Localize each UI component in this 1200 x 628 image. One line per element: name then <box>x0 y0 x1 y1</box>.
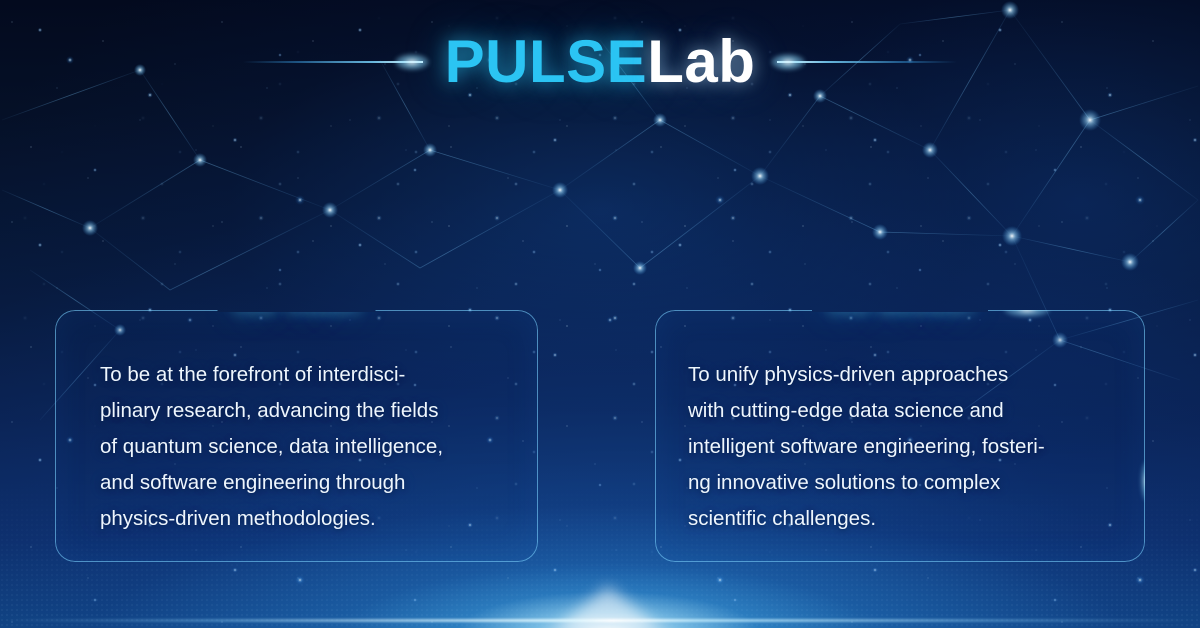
brand-primary: PULSE <box>445 28 648 95</box>
horizon-peak-glow <box>556 586 660 628</box>
horizon-line-glow <box>0 619 1200 622</box>
poster-canvas: PULSELab Our Vision To be at the forefro… <box>0 0 1200 628</box>
card-mission: Our Mission To unify physics-driven appr… <box>655 310 1145 562</box>
light-beam-right-icon <box>777 61 957 63</box>
page-title: PULSELab <box>423 32 778 92</box>
card-mission-body: To unify physics-driven approaches with … <box>688 357 1126 537</box>
border-glow-right <box>1141 461 1153 501</box>
card-mission-heading: Our Mission <box>812 292 988 317</box>
brand-secondary: Lab <box>647 28 755 95</box>
card-vision: Our Vision To be at the forefront of int… <box>55 310 538 562</box>
border-glow-top-right <box>1004 303 1050 317</box>
title-row: PULSELab <box>0 18 1200 106</box>
card-vision-body: To be at the forefront of interdisci- pl… <box>100 357 511 537</box>
card-vision-heading: Our Vision <box>218 292 376 317</box>
cards-row: Our Vision To be at the forefront of int… <box>55 310 1145 562</box>
light-beam-left-icon <box>243 61 423 63</box>
